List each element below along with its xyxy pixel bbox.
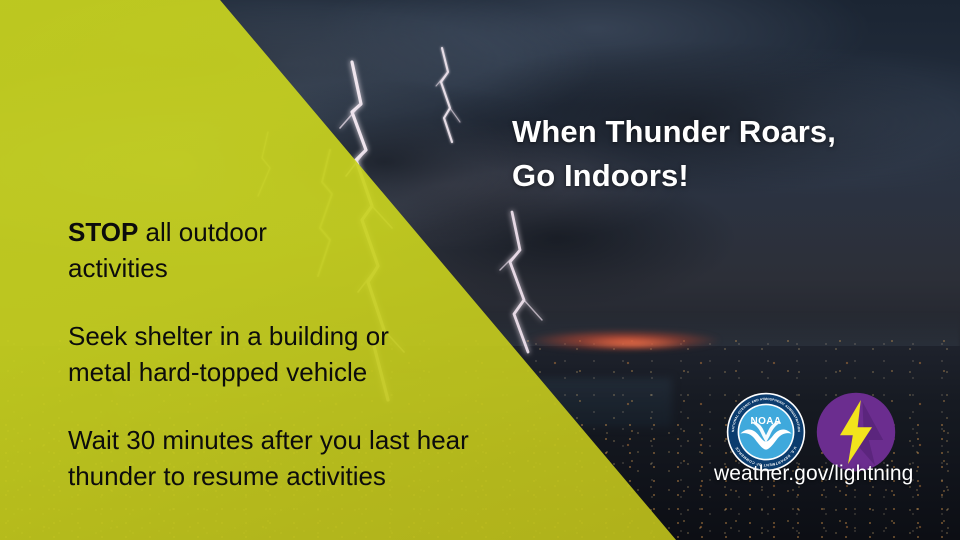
safety-tips-list: STOP all outdoor activities Seek shelter… [68, 214, 628, 494]
safety-tip-shelter: Seek shelter in a building or metal hard… [68, 318, 628, 391]
safety-tip-wait-line-1: Wait 30 minutes after you last hear [68, 422, 628, 458]
safety-tip-stop-emphasis: STOP [68, 217, 138, 247]
lightning-bolt-badge-icon [816, 392, 896, 472]
page-title: When Thunder Roars, Go Indoors! [512, 110, 932, 198]
safety-tip-stop-line-1: STOP all outdoor [68, 214, 628, 250]
noaa-seal-icon: NOAA NATIONAL OCEANIC AND ATMOSPHERIC AD… [726, 392, 806, 472]
logo-row: NOAA NATIONAL OCEANIC AND ATMOSPHERIC AD… [726, 392, 896, 472]
safety-tip-stop: STOP all outdoor activities [68, 214, 628, 287]
noaa-center-text: NOAA [750, 416, 781, 427]
safety-tip-stop-rest: all outdoor [138, 217, 267, 247]
headline-line-1: When Thunder Roars, [512, 114, 836, 149]
safety-tip-stop-line-2: activities [68, 250, 628, 286]
safety-tip-wait-line-2: thunder to resume activities [68, 458, 628, 494]
headline-line-2: Go Indoors! [512, 154, 932, 198]
safety-tip-wait: Wait 30 minutes after you last hear thun… [68, 422, 628, 495]
lightning-safety-poster: When Thunder Roars, Go Indoors! STOP all… [0, 0, 960, 540]
website-url[interactable]: weather.gov/lightning [714, 462, 913, 486]
safety-tip-shelter-line-2: metal hard-topped vehicle [68, 354, 628, 390]
safety-tip-shelter-line-1: Seek shelter in a building or [68, 318, 628, 354]
